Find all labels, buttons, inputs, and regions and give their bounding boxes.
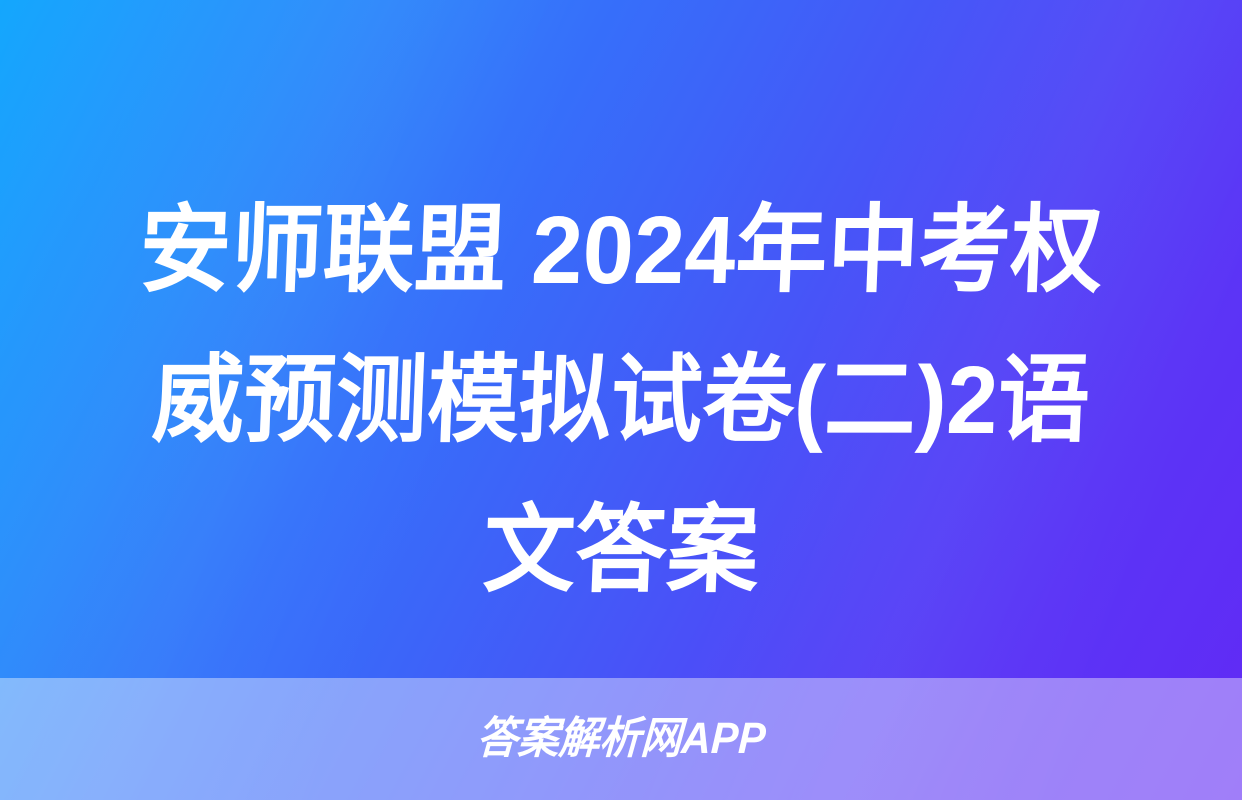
poster-canvas: 安师联盟 2024年中考权 威预测模拟试卷(二)2语 文答案 答案解析网APP — [0, 0, 1242, 800]
page-title-line-3: 文答案 — [96, 476, 1147, 626]
page-title: 安师联盟 2024年中考权 威预测模拟试卷(二)2语 文答案 — [0, 176, 1242, 626]
page-title-line-1: 安师联盟 2024年中考权 — [96, 176, 1147, 326]
footer-watermark-bar: 答案解析网APP — [0, 678, 1242, 800]
page-title-line-2: 威预测模拟试卷(二)2语 — [96, 326, 1147, 476]
app-watermark-label: 答案解析网APP — [476, 717, 767, 761]
